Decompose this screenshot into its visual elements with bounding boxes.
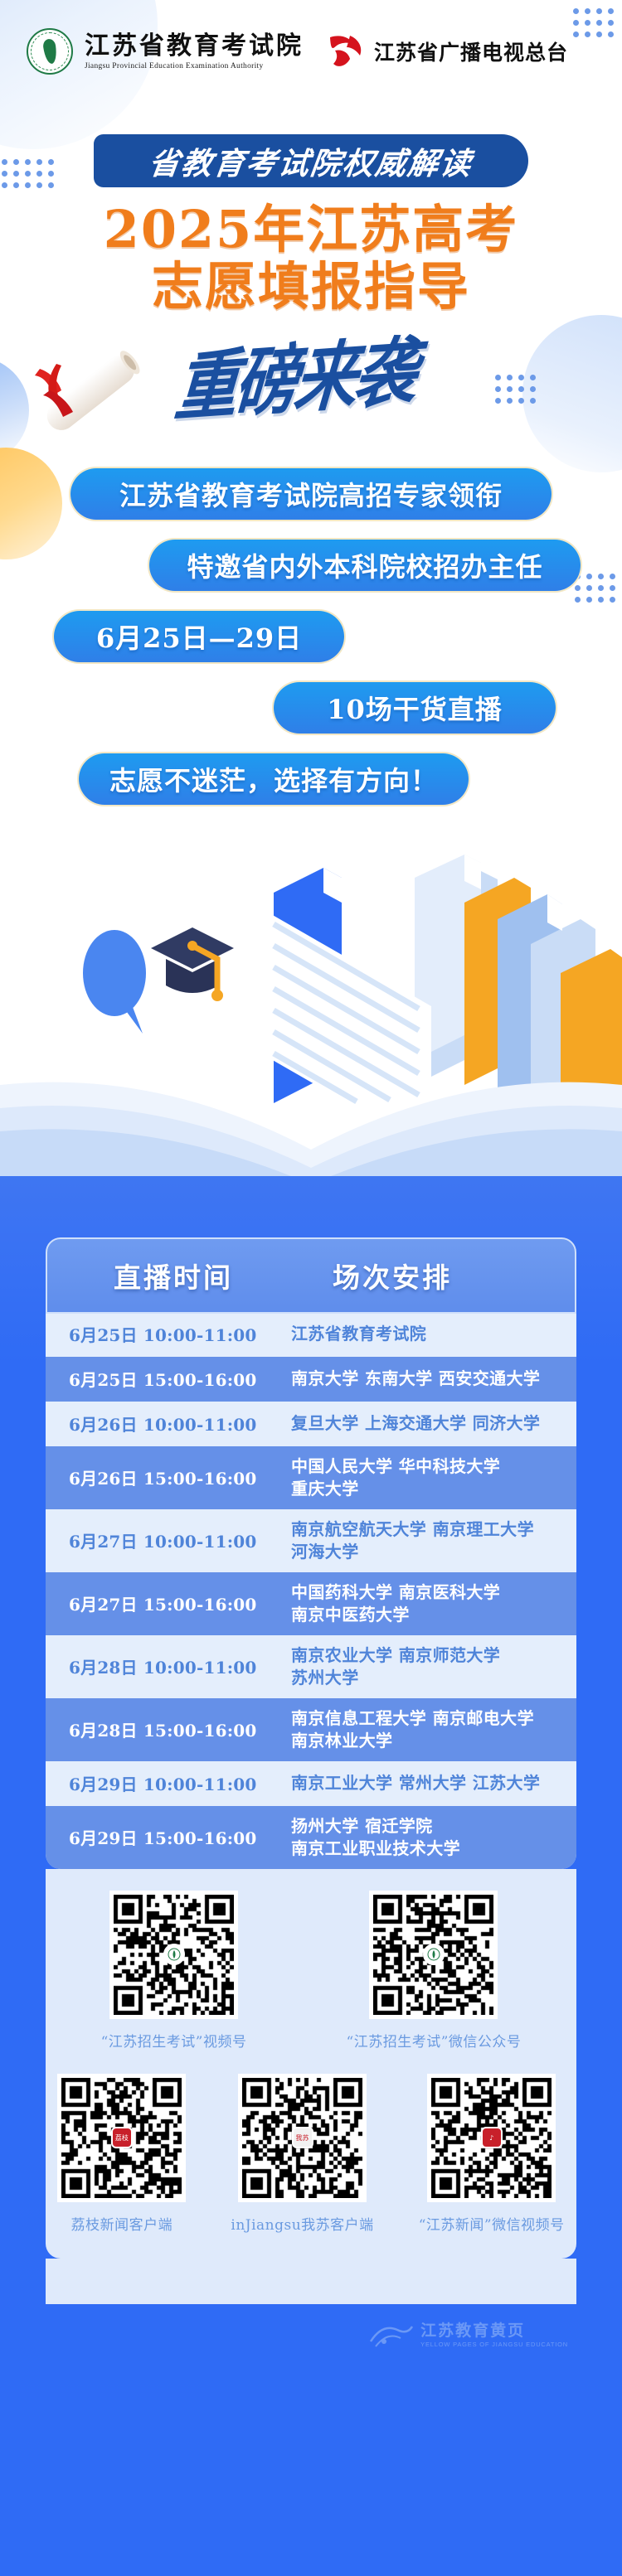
hero-section: 江苏省教育考试院 Jiangsu Provincial Education Ex… [0, 0, 622, 1176]
calligraphy-row: 重磅来袭 [0, 319, 622, 462]
qr-center-logo-icon: 荔枝 [111, 2127, 133, 2148]
schedule-row-venue: 南京大学 东南大学 西安交通大学 [291, 1368, 540, 1390]
column-header-time: 直播时间 [114, 1256, 233, 1295]
wave-watermark-icon: 江苏教育黄页 YELLOW PAGES OF JIANGSU EDUCATION [367, 2317, 568, 2350]
watermark-en: YELLOW PAGES OF JIANGSU EDUCATION [420, 2341, 568, 2348]
authority-ribbon: 省教育考试院权威解读 [94, 134, 528, 187]
pill-label: 志愿不迷茫，选择有方向！ [109, 760, 438, 798]
qr-row-bottom: 荔枝荔枝新闻客户端我苏inJiangsu我苏客户端♪“江苏新闻”微信视频号 [46, 2074, 576, 2234]
schedule-row-time: 6月29日 15:00-16:00 [69, 1825, 291, 1849]
jiangsu-broadcast-logo-icon [325, 32, 365, 70]
schedule-row: 6月26日 10:00-11:00复旦大学 上海交通大学 同济大学 [46, 1402, 576, 1446]
schedule-row-venue: 中国药科大学 南京医科大学南京中医药大学 [291, 1581, 500, 1626]
schedule-row-venue: 南京农业大学 南京师范大学苏州大学 [291, 1644, 500, 1689]
highlight-pill-3: 10场干货直播 [274, 682, 556, 734]
schedule-row-time: 6月27日 10:00-11:00 [69, 1528, 291, 1552]
qr-code-icon[interactable]: 我苏 [238, 2074, 367, 2202]
schedule-row: 6月29日 10:00-11:00南京工业大学 常州大学 江苏大学 [46, 1761, 576, 1806]
schedule-row-time: 6月29日 10:00-11:00 [69, 1771, 291, 1795]
ribbon-label: 省教育考试院权威解读 [147, 138, 476, 183]
schedule-row-venue: 中国人民大学 华中科技大学重庆大学 [291, 1455, 500, 1500]
org-name-cn: 江苏省教育考试院 [85, 32, 304, 60]
schedule-row-venue: 南京工业大学 常州大学 江苏大学 [291, 1772, 540, 1794]
pill-label: 特邀省内外本科院校招办主任 [187, 546, 542, 584]
exam-authority-logotype: 江苏省教育考试院 Jiangsu Provincial Education Ex… [85, 32, 304, 70]
broadcast-name-cn: 江苏省广播电视总台 [374, 36, 568, 66]
schedule-row: 6月28日 10:00-11:00南京农业大学 南京师范大学苏州大学 [46, 1635, 576, 1698]
pill-label: 10场干货直播 [327, 689, 503, 727]
qr-caption: inJiangsu我苏客户端 [231, 2213, 373, 2234]
qr-code-icon[interactable] [369, 1891, 498, 2019]
pill-label: 6月25日—29日 [96, 617, 302, 656]
schedule-row-time: 6月27日 15:00-16:00 [69, 1591, 291, 1615]
graduation-cap-icon [151, 927, 234, 1001]
schedule-row: 6月29日 15:00-16:00扬州大学 宿迁学院南京工业职业技术大学 [46, 1806, 576, 1869]
schedule-row-time: 6月25日 15:00-16:00 [69, 1367, 291, 1391]
qr-center-seal-icon [163, 1944, 185, 1965]
watermark-wave-glyph [367, 2317, 415, 2350]
broadcast-logo: 江苏省广播电视总台 [325, 32, 568, 70]
qr-center-logo-icon: ♪ [481, 2127, 503, 2148]
schedule-row-venue: 复旦大学 上海交通大学 同济大学 [291, 1412, 540, 1435]
schedule-row: 6月27日 15:00-16:00中国药科大学 南京医科大学南京中医药大学 [46, 1572, 576, 1635]
qr-center-seal-icon [423, 1944, 445, 1965]
qr-row-top: “江苏招生考试”视频号“江苏招生考试”微信公众号 [46, 1891, 576, 2051]
schedule-row: 6月26日 15:00-16:00中国人民大学 华中科技大学重庆大学 [46, 1446, 576, 1509]
schedule-table: 直播时间 场次安排 6月25日 10:00-11:00江苏省教育考试院6月25日… [46, 1237, 576, 1869]
education-illustration [0, 820, 622, 1176]
page-title-line1: 2025年江苏高考 [0, 201, 622, 258]
schedule-section: 直播时间 场次安排 6月25日 10:00-11:00江苏省教育考试院6月25日… [0, 1174, 622, 2358]
watermark-text: 江苏教育黄页 YELLOW PAGES OF JIANGSU EDUCATION [420, 2318, 568, 2348]
qr-item[interactable]: ♪“江苏新闻”微信视频号 [419, 2074, 565, 2234]
schedule-row-time: 6月26日 10:00-11:00 [69, 1411, 291, 1436]
seal-leaf-shape [41, 38, 57, 65]
speech-bubble-icon [83, 930, 146, 1034]
qr-caption: “江苏新闻”微信视频号 [419, 2213, 565, 2234]
qr-item[interactable]: “江苏招生考试”视频号 [101, 1891, 247, 2051]
highlight-pill-2: 6月25日—29日 [54, 611, 344, 662]
watermark-cn: 江苏教育黄页 [420, 2318, 568, 2341]
schedule-row: 6月25日 10:00-11:00江苏省教育考试院 [46, 1312, 576, 1357]
poster-root: 江苏省教育考试院 Jiangsu Provincial Education Ex… [0, 0, 622, 2358]
page-title: 2025年江苏高考 志愿填报指导 [0, 201, 622, 316]
qr-code-icon[interactable] [109, 1891, 238, 2019]
qr-code-icon[interactable]: ♪ [427, 2074, 556, 2202]
schedule-row: 6月28日 15:00-16:00南京信息工程大学 南京邮电大学南京林业大学 [46, 1698, 576, 1761]
schedule-row-time: 6月25日 10:00-11:00 [69, 1322, 291, 1346]
qr-caption: “江苏招生考试”微信公众号 [347, 2030, 522, 2051]
highlight-pill-1: 特邀省内外本科院校招办主任 [149, 540, 581, 591]
highlight-pill-4: 志愿不迷茫，选择有方向！ [79, 753, 469, 805]
open-book-icon [0, 1082, 622, 1175]
qr-item[interactable]: “江苏招生考试”微信公众号 [347, 1891, 522, 2051]
calligraphy-text: 重磅来袭 [172, 310, 420, 435]
schedule-row-time: 6月28日 15:00-16:00 [69, 1717, 291, 1741]
qr-code-icon[interactable]: 荔枝 [57, 2074, 186, 2202]
qr-item[interactable]: 荔枝荔枝新闻客户端 [57, 2074, 186, 2234]
schedule-row-venue: 南京信息工程大学 南京邮电大学南京林业大学 [291, 1707, 534, 1752]
footer-watermark-area: 江苏教育黄页 YELLOW PAGES OF JIANGSU EDUCATION [46, 2259, 576, 2358]
schedule-row-time: 6月28日 10:00-11:00 [69, 1654, 291, 1678]
schedule-row-venue: 南京航空航天大学 南京理工大学河海大学 [291, 1518, 534, 1563]
schedule-row: 6月25日 15:00-16:00南京大学 东南大学 西安交通大学 [46, 1357, 576, 1402]
column-header-venue: 场次安排 [333, 1256, 452, 1295]
schedule-table-body: 6月25日 10:00-11:00江苏省教育考试院6月25日 15:00-16:… [46, 1312, 576, 1869]
education-seal-icon [27, 28, 73, 75]
schedule-table-header: 直播时间 场次安排 [46, 1237, 576, 1314]
decor-dot-grid-left [2, 159, 54, 188]
schedule-row: 6月27日 10:00-11:00南京航空航天大学 南京理工大学河海大学 [46, 1509, 576, 1572]
rolled-diploma-icon [25, 336, 158, 452]
org-name-en: Jiangsu Provincial Education Examination… [85, 62, 304, 70]
illustration-svg [0, 820, 622, 1176]
header-logos: 江苏省教育考试院 Jiangsu Provincial Education Ex… [0, 0, 622, 75]
schedule-row-venue: 扬州大学 宿迁学院南京工业职业技术大学 [291, 1815, 460, 1860]
qr-caption: “江苏招生考试”视频号 [101, 2030, 247, 2051]
qr-item[interactable]: 我苏inJiangsu我苏客户端 [231, 2074, 373, 2234]
schedule-row-time: 6月26日 15:00-16:00 [69, 1465, 291, 1489]
schedule-row-venue: 江苏省教育考试院 [291, 1323, 426, 1345]
pill-label: 江苏省教育考试院高招专家领衔 [119, 475, 503, 513]
highlight-pill-0: 江苏省教育考试院高招专家领衔 [70, 468, 552, 520]
page-title-line2: 志愿填报指导 [0, 258, 622, 315]
highlight-pills: 江苏省教育考试院高招专家领衔 特邀省内外本科院校招办主任 6月25日—29日 1… [0, 462, 622, 805]
qr-center-logo-icon: 我苏 [292, 2127, 313, 2148]
qr-caption: 荔枝新闻客户端 [71, 2213, 173, 2234]
qr-panel: “江苏招生考试”视频号“江苏招生考试”微信公众号 荔枝荔枝新闻客户端我苏inJi… [46, 1869, 576, 2259]
